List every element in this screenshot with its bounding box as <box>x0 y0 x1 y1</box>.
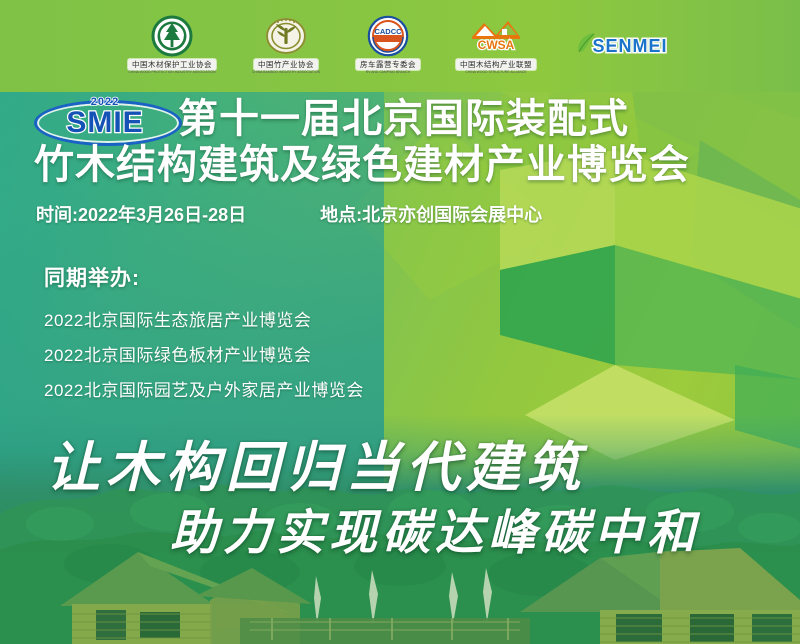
event-venue: 地点:北京亦创国际会展中心 <box>320 203 542 227</box>
event-meta: 时间:2022年3月26日-28日 地点:北京亦创国际会展中心 <box>36 203 676 227</box>
event-date: 时间:2022年3月26日-28日 <box>36 203 246 227</box>
sponsor-name-en: RV AND CAMPING BRANCH <box>366 70 411 75</box>
sponsor-name-cn: 中国木材保护工业协会 <box>128 59 216 70</box>
sponsor-logo-cadcc: CADCC 房车露营专委会 RV AND CAMPING BRANCH <box>356 15 420 75</box>
leaf-icon: SENMEI <box>572 28 672 62</box>
smie-acronym: SMIE <box>34 106 176 140</box>
slogan-block: 让木构回归当代建筑 助力实现碳达峰碳中和 <box>0 415 800 555</box>
concurrent-event-item: 2022北京国际绿色板材产业博览会 <box>44 338 504 373</box>
sponsor-logo-china-wood-protection: 中国木材保护工业协会 CHINA WOOD PROTECTION INDUSTR… <box>128 15 216 75</box>
sponsor-name-cn: 房车露营专委会 <box>356 59 420 70</box>
sponsor-logo-strip: 中国木材保护工业协会 CHINA WOOD PROTECTION INDUSTR… <box>0 6 800 84</box>
sponsor-logo-bamboo-association: 中国竹产业协会 CHINA BAMBOO INDUSTRY ASSOCIATIO… <box>252 15 320 75</box>
sponsor-logo-senmei: SENMEI <box>572 28 672 62</box>
sponsor-name-cn: 中国木结构产业联盟 <box>456 59 536 70</box>
svg-text:CADCC: CADCC <box>374 27 402 36</box>
svg-text:SENMEI: SENMEI <box>592 36 667 56</box>
slogan-line2: 助力实现碳达峰碳中和 <box>170 493 700 563</box>
concurrent-events: 同期举办: 2022北京国际生态旅居产业博览会 2022北京国际绿色板材产业博览… <box>44 265 504 408</box>
sponsor-name-en: CHINA WOOD PROTECTION INDUSTRY ASSOCIATI… <box>128 70 215 75</box>
slogan-line1: 让木构回归当代建筑 <box>46 423 586 502</box>
page-title-line1: 第十一届北京国际装配式 <box>178 96 629 142</box>
page-title-line2: 竹木结构建筑及绿色建材产业博览会 <box>34 142 690 188</box>
concurrent-event-item: 2022北京国际生态旅居产业博览会 <box>44 303 504 338</box>
exhibition-poster: 中国木材保护工业协会 CHINA WOOD PROTECTION INDUSTR… <box>0 0 800 644</box>
concurrent-event-item: 2022北京国际园艺及户外家居产业博览会 <box>44 373 504 408</box>
sponsor-name-en: CHINA WOOD STRUCTURE ALLIANCE <box>465 70 526 75</box>
pine-tree-shield-icon <box>151 15 193 57</box>
concurrent-events-heading: 同期举办: <box>44 265 504 293</box>
sponsor-logo-cwsa: CWSA 中国木结构产业联盟 CHINA WOOD STRUCTURE ALLI… <box>456 15 536 75</box>
house-roof-icon: CWSA <box>468 15 524 57</box>
sponsor-name-en: CHINA BAMBOO INDUSTRY ASSOCIATION <box>252 70 320 75</box>
sponsor-name-cn: 中国竹产业协会 <box>254 59 318 70</box>
bamboo-seal-icon <box>265 15 307 57</box>
svg-text:CWSA: CWSA <box>478 38 515 52</box>
cadcc-badge-icon: CADCC <box>367 15 409 57</box>
smie-brand-logo: 2022 SMIE <box>34 92 176 142</box>
